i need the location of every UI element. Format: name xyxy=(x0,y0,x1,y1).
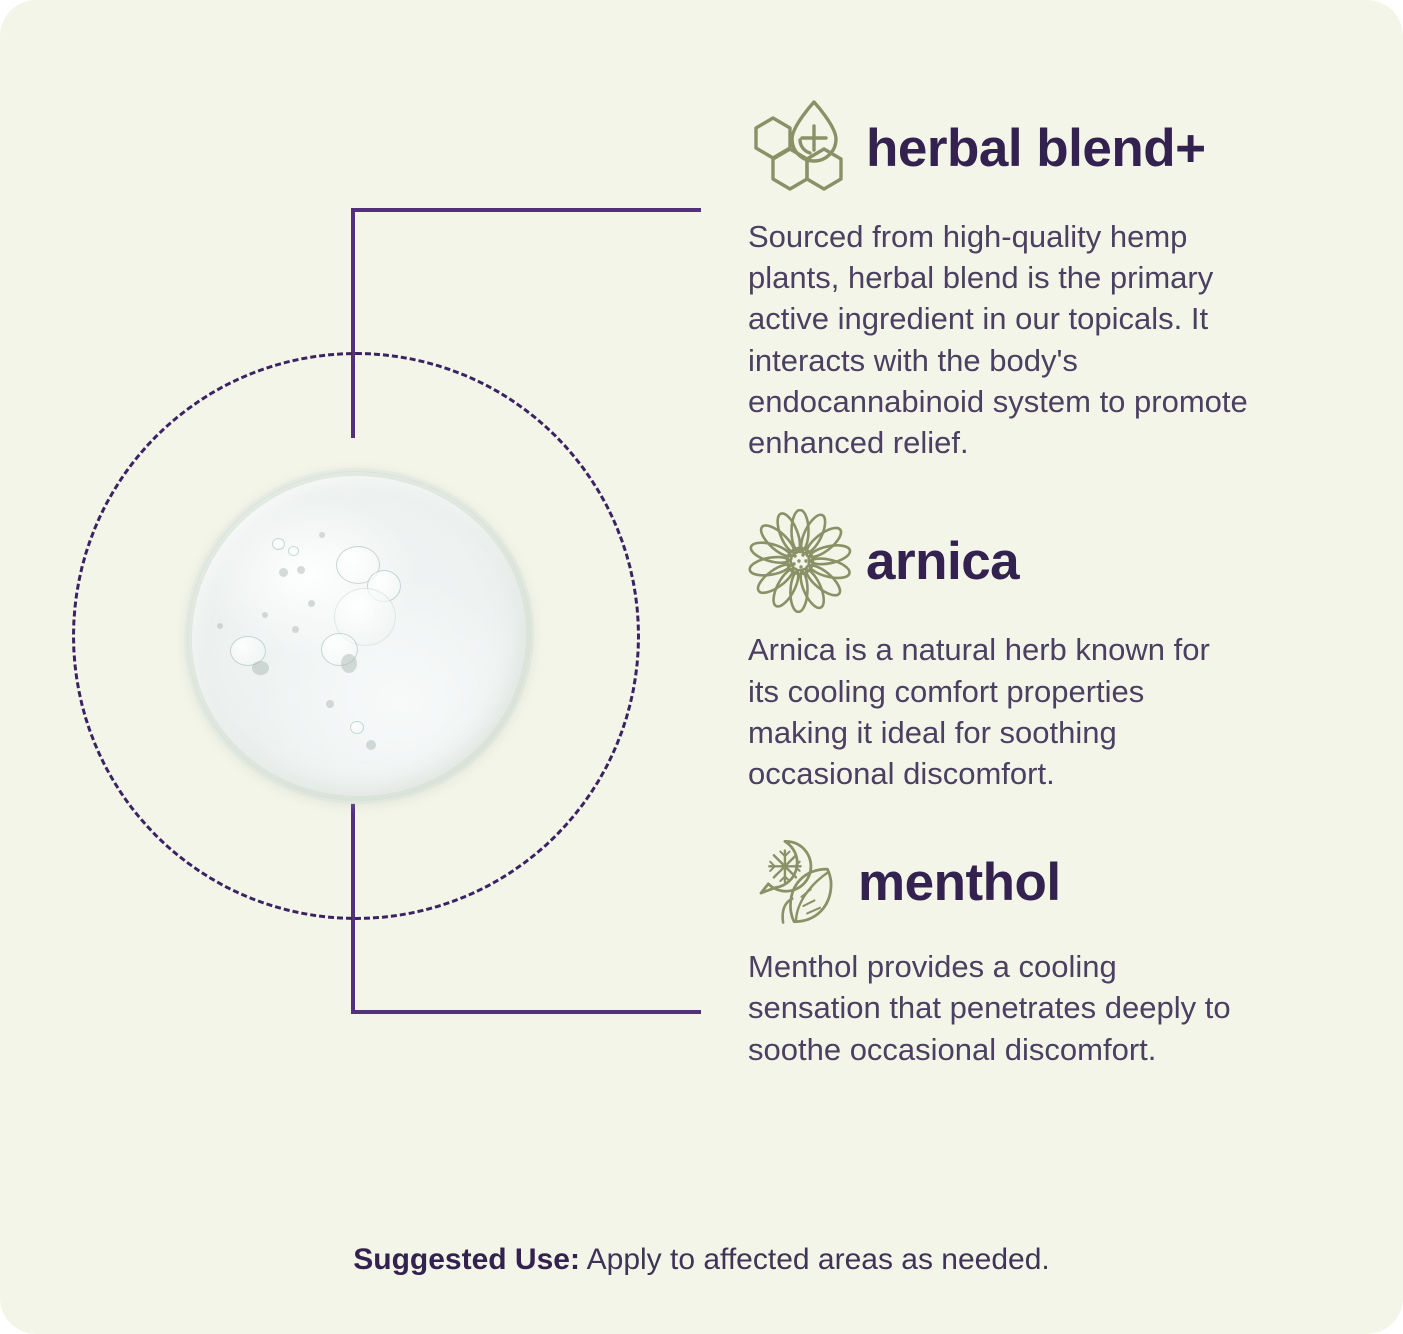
ingredient-header: menthol xyxy=(748,834,1268,930)
ingredients-list: herbal blend+ Sourced from high-quality … xyxy=(748,96,1268,1078)
product-visual-panel xyxy=(0,0,720,1180)
gel-bubble xyxy=(366,740,376,750)
gel-bubble xyxy=(308,600,315,607)
gel-bubble xyxy=(341,654,357,673)
gel-bubble xyxy=(288,546,299,556)
ingredients-info-card: herbal blend+ Sourced from high-quality … xyxy=(0,0,1403,1334)
suggested-use-note: Suggested Use: Apply to affected areas a… xyxy=(0,1243,1403,1277)
spacer xyxy=(748,471,1268,509)
ingredient-title: arnica xyxy=(866,535,1019,588)
ingredient-description: Menthol provides a cooling sensation tha… xyxy=(748,946,1248,1070)
gel-bubble xyxy=(319,532,325,538)
spacer xyxy=(748,802,1268,834)
ingredient-header: herbal blend+ xyxy=(748,96,1268,200)
ingredient-title: herbal blend+ xyxy=(866,122,1206,175)
hexagon-droplet-plus-icon xyxy=(748,96,852,200)
suggested-use-text: Apply to affected areas as needed. xyxy=(587,1243,1050,1276)
ingredient-title: menthol xyxy=(858,856,1061,909)
gel-bubble xyxy=(350,721,364,734)
gel-bubble xyxy=(292,626,299,633)
gel-bubble xyxy=(279,568,288,577)
ingredient-description: Sourced from high-quality hemp plants, h… xyxy=(748,216,1248,463)
ingredient-header: arnica xyxy=(748,509,1268,613)
gel-bubble xyxy=(272,538,285,550)
daisy-flower-icon xyxy=(748,509,852,613)
ingredient-description: Arnica is a natural herb known for its c… xyxy=(748,629,1248,794)
suggested-use-label: Suggested Use: xyxy=(353,1243,580,1276)
gel-swatch-image xyxy=(184,468,534,804)
snowflake-leaf-icon xyxy=(748,834,844,930)
gel-bubble xyxy=(297,566,305,574)
ingredient-menthol: menthol Menthol provides a cooling sensa… xyxy=(748,834,1268,1070)
gel-bubble xyxy=(326,700,334,708)
ingredient-arnica: arnica Arnica is a natural herb known fo… xyxy=(748,509,1268,794)
gel-bubble xyxy=(262,612,268,618)
gel-bubble xyxy=(252,661,269,675)
gel-bubble xyxy=(217,623,223,629)
ingredient-herbal-blend: herbal blend+ Sourced from high-quality … xyxy=(748,96,1268,463)
